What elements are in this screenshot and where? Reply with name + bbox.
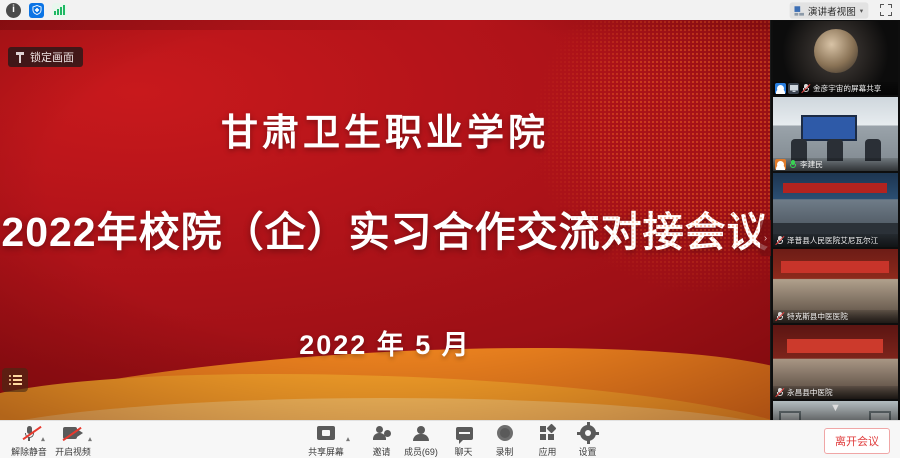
fullscreen-icon[interactable]: [880, 4, 892, 16]
settings-button[interactable]: 设置: [561, 424, 615, 458]
view-mode-label: 演讲者视图: [808, 3, 856, 17]
pin-icon: [15, 52, 25, 63]
record-label: 录制: [496, 444, 514, 457]
share-screen-button[interactable]: 共享屏幕: [299, 424, 353, 458]
mute-options-caret[interactable]: ▾: [41, 435, 45, 444]
pin-video-button[interactable]: 锁定画面: [8, 47, 83, 67]
thumbnail-item[interactable]: 李建民: [773, 97, 898, 171]
mic-active-icon: [788, 159, 798, 170]
record-icon: [497, 424, 513, 442]
thumbnail-name: 特克斯县中医医院: [787, 311, 848, 321]
status-icon-group: i: [0, 3, 67, 18]
speaker-view-icon: [795, 5, 805, 15]
pin-video-label: 锁定画面: [30, 49, 74, 65]
gear-icon: [580, 424, 596, 442]
slide-date: 2022 年 5 月: [0, 323, 770, 362]
apps-icon: [540, 424, 556, 442]
user-badge-icon: [775, 83, 786, 94]
shield-icon[interactable]: [29, 3, 44, 18]
thumbnail-item[interactable]: 永昌县中医院: [773, 325, 898, 399]
user-badge-icon: [775, 159, 786, 170]
camera-off-icon: [63, 424, 83, 442]
mic-muted-icon: [775, 235, 785, 246]
thumbnail-name: 金彦宇宙的屏幕共享: [813, 83, 881, 93]
collapse-rail-button[interactable]: ›: [760, 220, 771, 256]
participant-thumbnail-rail[interactable]: 金彦宇宙的屏幕共享 李建民 泽普县人民医院艾尼瓦尔江: [771, 20, 900, 420]
mute-label: 解除静音: [11, 444, 47, 457]
info-icon[interactable]: i: [6, 3, 21, 18]
mic-muted-icon: [775, 311, 785, 322]
thumbnail-label-bar: 李建民: [773, 158, 898, 171]
thumbnail-label-bar: 金彦宇宙的屏幕共享: [773, 82, 898, 95]
share-screen-label: 共享屏幕: [308, 444, 344, 457]
rail-scroll-down-button[interactable]: ▼: [771, 396, 900, 420]
view-controls: 演讲者视图 ▾: [788, 2, 900, 19]
chat-icon: [456, 424, 473, 442]
mic-muted-icon: [801, 83, 811, 94]
presentation-slide: 甘肃卫生职业学院 2022年校院（企）实习合作交流对接会议 2022 年 5 月: [0, 20, 770, 420]
participants-icon: [413, 424, 429, 442]
thumbnail-name: 泽普县人民医院艾尼瓦尔江: [787, 235, 878, 245]
view-mode-selector[interactable]: 演讲者视图 ▾: [790, 2, 868, 18]
screen-share-badge-icon: [788, 83, 799, 94]
list-icon[interactable]: [2, 368, 28, 392]
thumbnail-item[interactable]: 泽普县人民医院艾尼瓦尔江: [773, 173, 898, 247]
video-options-caret[interactable]: ▾: [88, 435, 92, 444]
settings-label: 设置: [579, 444, 597, 457]
thumbnail-label-bar: 泽普县人民医院艾尼瓦尔江: [773, 234, 898, 247]
thumbnail-item[interactable]: 特克斯县中医医院: [773, 249, 898, 323]
meeting-toolbar: 解除静音 ▾ 开启视频 ▾ 共享屏幕 ▾ 邀请 成员(69): [0, 420, 900, 458]
window-topbar: i 演讲者视图 ▾: [0, 0, 900, 20]
participants-label: 成员(69): [404, 444, 438, 457]
invite-label: 邀请: [373, 444, 391, 457]
chevron-down-icon[interactable]: ▾: [860, 6, 863, 14]
invite-icon: [373, 424, 391, 442]
shared-screen-stage[interactable]: 甘肃卫生职业学院 2022年校院（企）实习合作交流对接会议 2022 年 5 月…: [0, 20, 770, 420]
video-label: 开启视频: [55, 444, 91, 457]
apps-label: 应用: [539, 444, 557, 457]
leave-meeting-button[interactable]: 离开会议: [824, 428, 890, 454]
thumbnail-name: 李建民: [800, 159, 823, 169]
slide-main-heading: 2022年校院（企）实习合作交流对接会议: [0, 198, 770, 258]
slide-organization-title: 甘肃卫生职业学院: [0, 102, 770, 156]
share-screen-icon: [317, 424, 335, 442]
chat-label: 聊天: [455, 444, 473, 457]
share-options-caret[interactable]: ▾: [346, 435, 350, 444]
thumbnail-label-bar: 特克斯县中医医院: [773, 310, 898, 323]
meeting-window: i 演讲者视图 ▾ 甘肃卫生职业学院 2022年校院（企）实习: [0, 0, 900, 458]
microphone-muted-icon: [23, 424, 36, 442]
signal-icon[interactable]: [52, 3, 67, 18]
thumbnail-item[interactable]: 金彦宇宙的屏幕共享: [773, 21, 898, 95]
